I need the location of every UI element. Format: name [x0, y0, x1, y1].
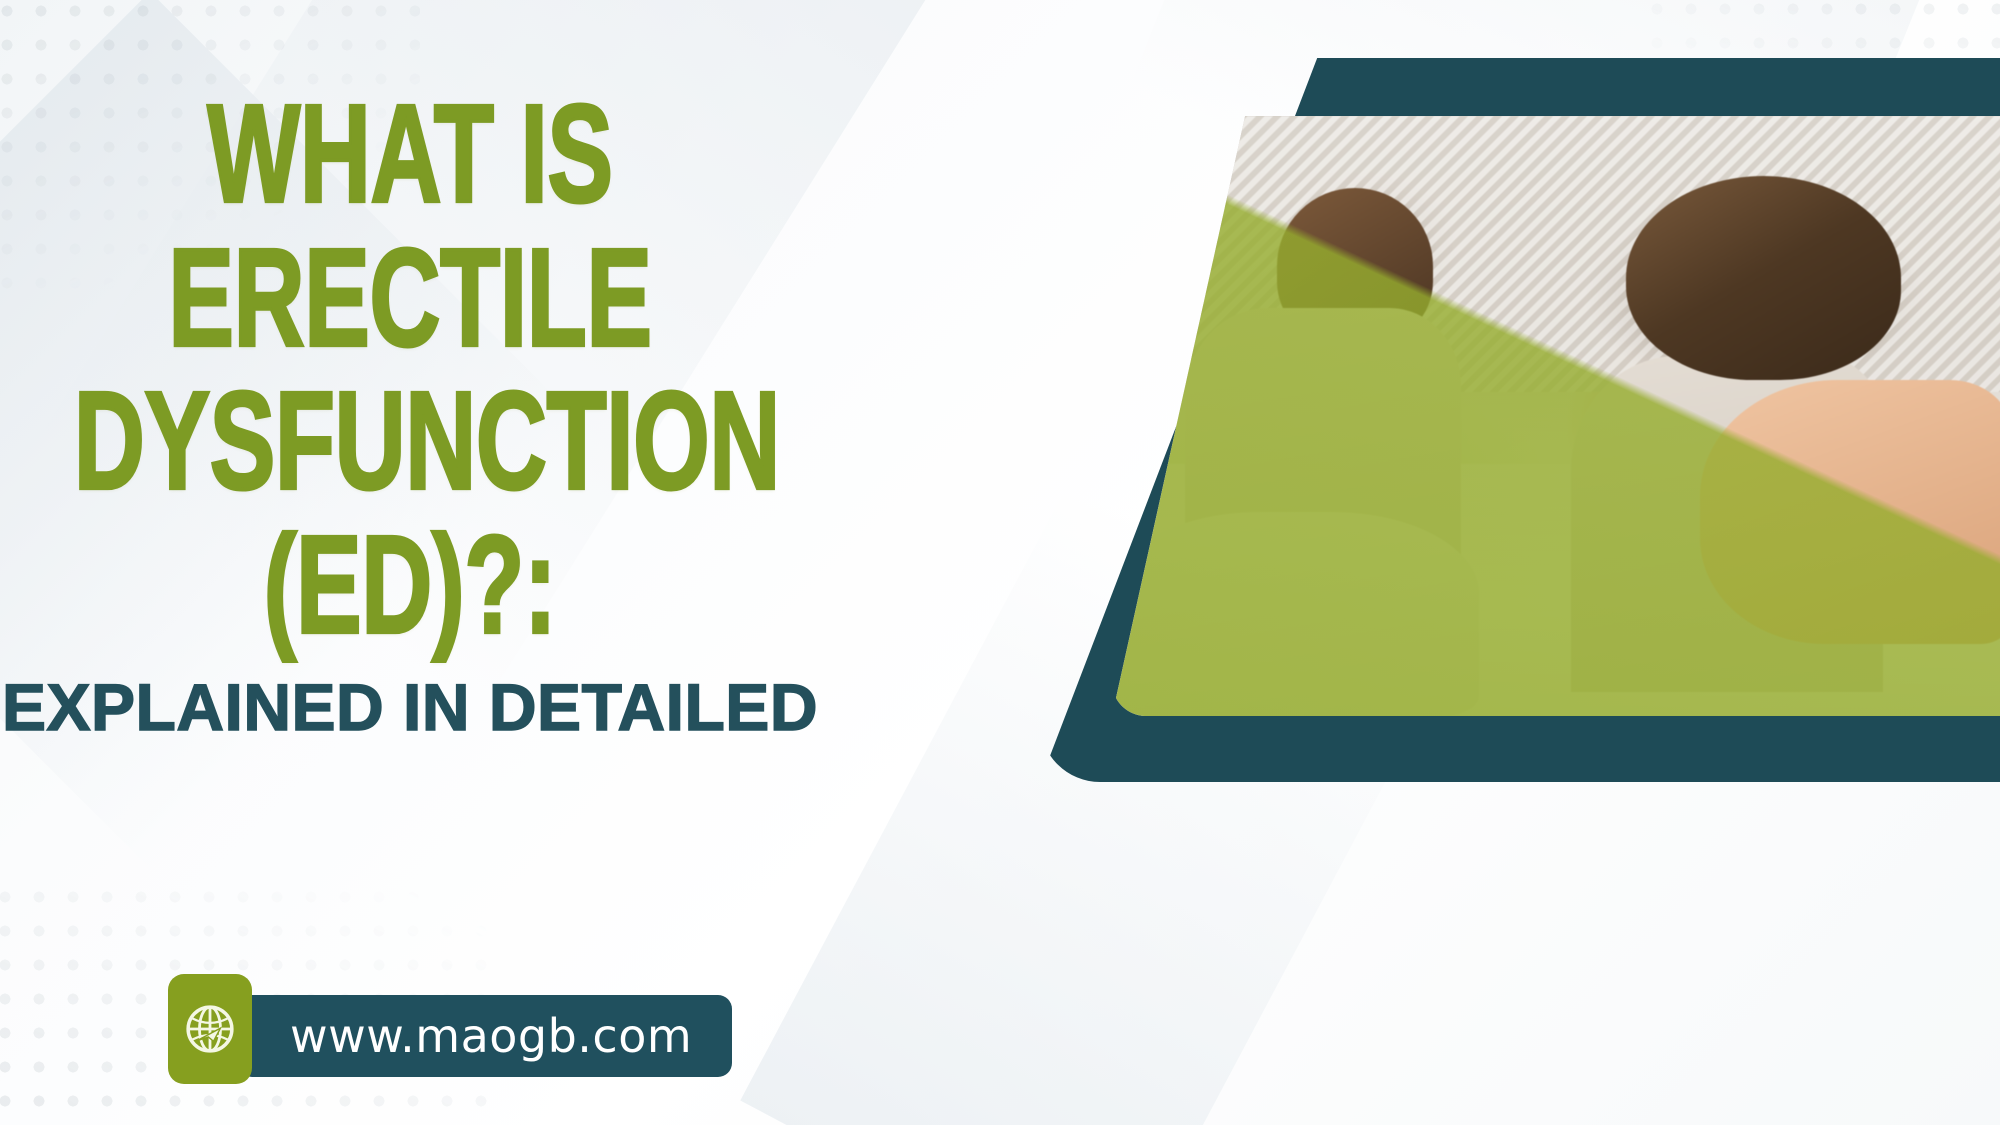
title-line-3: DYSFUNCTION: [74, 374, 746, 510]
title-line-2: ERECTILE: [74, 230, 746, 366]
title-line-1: WHAT IS: [74, 87, 746, 223]
photo-image: [1112, 116, 2000, 716]
website-url-bar[interactable]: www.maogb.com: [238, 995, 732, 1077]
page-subtitle: EXPLAINED IN DETAILED: [0, 674, 820, 740]
poster-canvas: WHAT IS ERECTILE DYSFUNCTION (ED)?: EXPL…: [0, 0, 2000, 1125]
headline-block: WHAT IS ERECTILE DYSFUNCTION (ED)?: EXPL…: [0, 96, 820, 740]
photo-frame: [1040, 58, 2000, 782]
globe-icon: [168, 974, 252, 1084]
website-badge[interactable]: www.maogb.com: [168, 995, 732, 1077]
title-line-4: (ED)?:: [74, 517, 746, 653]
website-url-text: www.maogb.com: [290, 1009, 692, 1063]
photo-green-overlay: [1112, 116, 2000, 716]
